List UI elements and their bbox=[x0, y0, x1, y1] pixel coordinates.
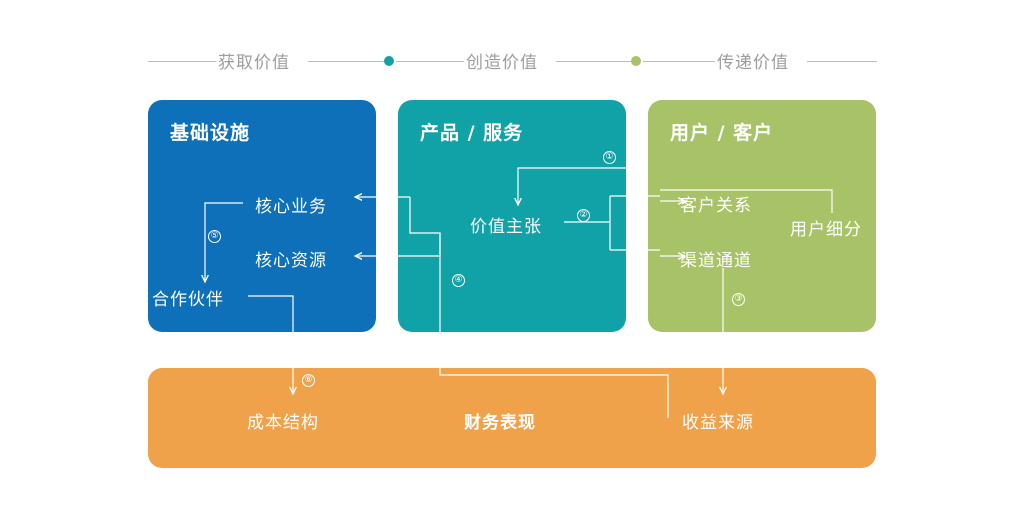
business-model-canvas-diagram: 获取价值 创造价值 传递价值 基础设施 产品 / 服务 用户 / 客户 bbox=[0, 0, 1024, 507]
marker-3: ③ bbox=[732, 293, 745, 306]
item-value-proposition[interactable]: 价值主张 bbox=[470, 212, 542, 237]
rail-segment-2 bbox=[308, 61, 386, 62]
phase-label-capture: 获取价值 bbox=[218, 48, 290, 73]
item-core-resources[interactable]: 核心资源 bbox=[255, 246, 327, 271]
item-core-business[interactable]: 核心业务 bbox=[255, 192, 327, 217]
item-key-partners[interactable]: 合作伙伴 bbox=[152, 285, 224, 310]
phase-rail: 获取价值 创造价值 传递价值 bbox=[0, 0, 1024, 100]
item-channels[interactable]: 渠道通道 bbox=[680, 246, 752, 271]
marker-4: ④ bbox=[452, 274, 465, 287]
marker-5: ⑤ bbox=[208, 230, 221, 243]
marker-1: ① bbox=[603, 151, 616, 164]
item-customer-relations[interactable]: 客户关系 bbox=[680, 191, 752, 216]
phase-dot-deliver bbox=[631, 56, 641, 66]
rail-segment-3 bbox=[396, 61, 464, 62]
rail-segment-5 bbox=[643, 61, 715, 62]
marker-6: ⑥ bbox=[302, 374, 315, 387]
panel-title-infrastructure: 基础设施 bbox=[170, 118, 250, 145]
phase-label-create: 创造价值 bbox=[466, 48, 538, 73]
item-user-segments[interactable]: 用户细分 bbox=[790, 215, 862, 240]
panel-title-customer: 用户 / 客户 bbox=[670, 118, 773, 145]
marker-2: ② bbox=[577, 209, 590, 222]
rail-segment-6 bbox=[807, 61, 877, 62]
rail-segment-1 bbox=[148, 61, 216, 62]
phase-label-deliver: 传递价值 bbox=[717, 48, 789, 73]
item-cost-structure[interactable]: 成本结构 bbox=[247, 408, 319, 433]
panel-title-finance: 财务表现 bbox=[464, 408, 536, 433]
rail-segment-4 bbox=[556, 61, 632, 62]
phase-dot-create bbox=[384, 56, 394, 66]
panel-title-offering: 产品 / 服务 bbox=[420, 118, 523, 145]
item-revenue-streams[interactable]: 收益来源 bbox=[682, 408, 754, 433]
